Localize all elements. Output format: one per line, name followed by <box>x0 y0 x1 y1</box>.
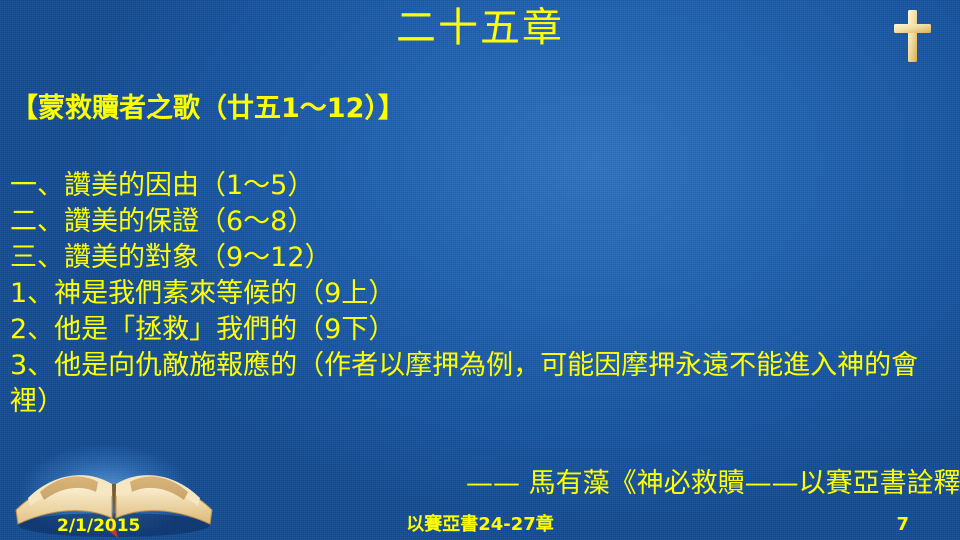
outline-item: 三、讚美的對象（9～12） <box>10 240 956 276</box>
outline-item: 二、讚美的保證（6～8） <box>10 204 956 240</box>
page-title: 二十五章 <box>0 4 960 52</box>
outline-item: 3、他是向仇敵施報應的（作者以摩押為例，可能因摩押永遠不能進入神的會裡） <box>10 348 956 420</box>
outline-item: 2、他是「拯救」我們的（9下） <box>10 312 956 348</box>
source-citation: —— 馬有藻《神必救贖——以賽亞書詮釋》 <box>466 466 960 502</box>
footer-subject: 以賽亞書24-27章 <box>0 514 960 536</box>
presentation-slide: 二十五章 【蒙救贖者之歌（廿五1～12）】 一、讚美的因由（1～5） 二、讚美的… <box>0 0 960 540</box>
outline-item: 1、神是我們素來等候的（9上） <box>10 276 956 312</box>
cross-icon <box>890 8 934 64</box>
outline-item: 一、讚美的因由（1～5） <box>10 168 956 204</box>
footer-page-number: 7 <box>896 514 909 536</box>
outline-list: 一、讚美的因由（1～5） 二、讚美的保證（6～8） 三、讚美的對象（9～12） … <box>10 168 956 420</box>
section-heading: 【蒙救贖者之歌（廿五1～12）】 <box>11 92 405 126</box>
